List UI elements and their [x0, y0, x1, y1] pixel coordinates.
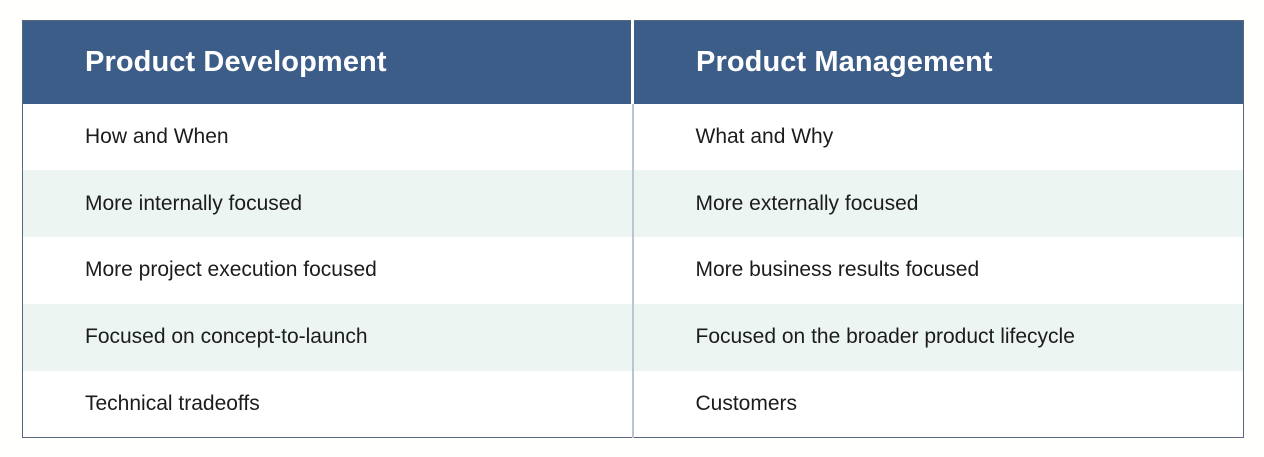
table-row: More internally focused More externally … — [23, 170, 1244, 237]
cell-product-management: What and Why — [633, 104, 1244, 171]
table-row: Focused on concept-to-launch Focused on … — [23, 304, 1244, 371]
page-root: Product Development Product Management H… — [0, 0, 1264, 457]
table-header: Product Development Product Management — [23, 21, 1244, 104]
cell-product-management: Customers — [633, 371, 1244, 438]
table-row: How and When What and Why — [23, 104, 1244, 171]
table-header-row: Product Development Product Management — [23, 21, 1244, 104]
cell-product-development: More internally focused — [23, 170, 633, 237]
cell-product-management: Focused on the broader product lifecycle — [633, 304, 1244, 371]
table-row: More project execution focused More busi… — [23, 237, 1244, 304]
cell-product-development: How and When — [23, 104, 633, 171]
column-header-product-management: Product Management — [633, 21, 1244, 104]
cell-product-development: Focused on concept-to-launch — [23, 304, 633, 371]
cell-product-development: Technical tradeoffs — [23, 371, 633, 438]
comparison-table: Product Development Product Management H… — [22, 20, 1244, 438]
column-header-product-development: Product Development — [23, 21, 633, 104]
cell-product-development: More project execution focused — [23, 237, 633, 304]
table-body: How and When What and Why More internall… — [23, 104, 1244, 438]
table-row: Technical tradeoffs Customers — [23, 371, 1244, 438]
cell-product-management: More externally focused — [633, 170, 1244, 237]
cell-product-management: More business results focused — [633, 237, 1244, 304]
